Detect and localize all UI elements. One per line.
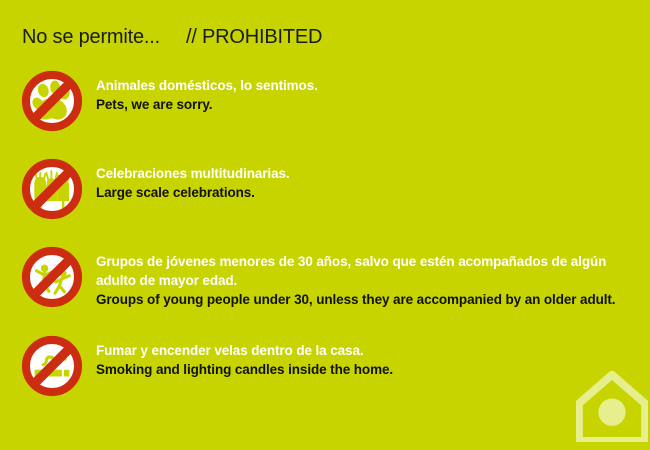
- list-item: Fumar y encender velas dentro de la casa…: [0, 335, 650, 397]
- rule-text-english: Smoking and lighting candles inside the …: [96, 360, 393, 379]
- no-smoking-candles-icon: [21, 335, 83, 397]
- no-large-gatherings-icon: [21, 158, 83, 220]
- crowd-raised-arms-icon: [21, 158, 83, 220]
- dancing-people-icon: [21, 246, 83, 308]
- page-title: No se permite... // PROHIBITED: [22, 26, 322, 49]
- no-young-groups-icon: [21, 246, 83, 308]
- page-title-english: // PROHIBITED: [186, 26, 322, 49]
- rule-text-english: Groups of young people under 30, unless …: [96, 290, 641, 309]
- rule-text-english: Pets, we are sorry.: [96, 95, 318, 114]
- list-item: Celebraciones multitudinarias. Large sca…: [0, 158, 650, 220]
- rule-text: Grupos de jóvenes menores de 30 años, sa…: [96, 246, 641, 309]
- paw-print-icon: [21, 70, 83, 132]
- rule-text-english: Large scale celebrations.: [96, 183, 290, 202]
- page-title-spanish: No se permite...: [22, 26, 160, 49]
- rule-text-spanish: Celebraciones multitudinarias.: [96, 164, 290, 183]
- rule-text: Celebraciones multitudinarias. Large sca…: [96, 158, 290, 202]
- house-logo-icon: [576, 368, 648, 442]
- rule-text-spanish: Animales domésticos, lo sentimos.: [96, 76, 318, 95]
- list-item: Animales domésticos, lo sentimos. Pets, …: [0, 70, 650, 132]
- rule-text: Animales domésticos, lo sentimos. Pets, …: [96, 70, 318, 114]
- list-item: Grupos de jóvenes menores de 30 años, sa…: [0, 246, 650, 309]
- rule-text-spanish: Grupos de jóvenes menores de 30 años, sa…: [96, 252, 641, 290]
- lit-cigarette-icon: [21, 335, 83, 397]
- no-pets-icon: [21, 70, 83, 132]
- poster-canvas: No se permite... // PROHIBITED: [0, 0, 650, 450]
- prohibition-list: Animales domésticos, lo sentimos. Pets, …: [0, 70, 650, 423]
- rule-text-spanish: Fumar y encender velas dentro de la casa…: [96, 341, 393, 360]
- rule-text: Fumar y encender velas dentro de la casa…: [96, 335, 393, 379]
